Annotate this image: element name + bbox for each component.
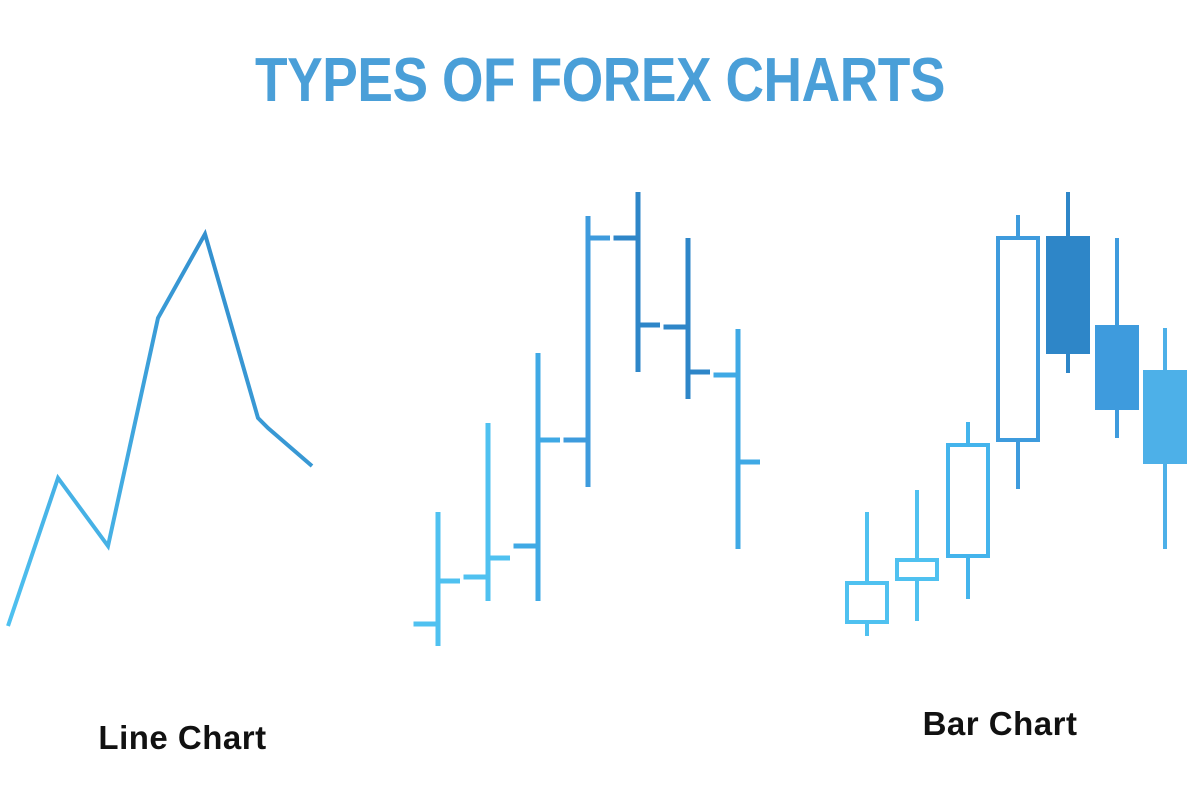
candlestick bbox=[1145, 328, 1185, 549]
candlestick bbox=[1048, 192, 1088, 373]
ohlc-open-tick bbox=[614, 236, 639, 241]
ohlc-close-tick bbox=[636, 323, 661, 328]
ohlc-open-tick bbox=[664, 325, 689, 330]
ohlc-close-tick bbox=[436, 579, 461, 584]
ohlc-open-tick bbox=[414, 622, 439, 627]
ohlc-range-line bbox=[636, 192, 641, 372]
ohlc-bar bbox=[514, 353, 561, 601]
candlestick-series bbox=[847, 192, 1185, 636]
ohlc-bar bbox=[564, 216, 611, 487]
ohlc-close-tick bbox=[486, 556, 511, 561]
candlestick-body-hollow bbox=[897, 560, 937, 579]
ohlc-range-line bbox=[686, 238, 691, 399]
candlestick-body-hollow bbox=[847, 583, 887, 622]
ohlc-open-tick bbox=[564, 438, 589, 443]
bar-chart-graphic bbox=[400, 0, 800, 800]
poster-canvas: TYPES OF FOREX CHARTS Line Chart Bar Cha… bbox=[0, 0, 1200, 800]
candlestick-body-hollow bbox=[948, 445, 988, 556]
ohlc-bar bbox=[714, 329, 761, 549]
line-series-path bbox=[8, 234, 312, 626]
bar-chart-panel: Bar Chart bbox=[400, 0, 800, 800]
ohlc-close-tick bbox=[536, 438, 561, 443]
candlestick bbox=[897, 490, 937, 621]
ohlc-range-line bbox=[736, 329, 741, 549]
ohlc-bar bbox=[664, 238, 711, 399]
candlestick-chart-graphic bbox=[800, 0, 1200, 800]
ohlc-open-tick bbox=[514, 544, 539, 549]
ohlc-bar bbox=[614, 192, 661, 372]
ohlc-bar-series bbox=[414, 192, 761, 646]
line-chart-panel: Line Chart bbox=[0, 0, 400, 800]
ohlc-open-tick bbox=[714, 373, 739, 378]
ohlc-bar bbox=[414, 512, 461, 646]
candlestick-body-filled bbox=[1145, 372, 1185, 462]
ohlc-bar bbox=[464, 423, 511, 601]
candlestick bbox=[998, 215, 1038, 489]
candlestick-body-filled bbox=[1048, 238, 1088, 352]
candlestick bbox=[1097, 238, 1137, 438]
candlestick-chart-panel: Candlestick Chart bbox=[800, 0, 1200, 800]
ohlc-close-tick bbox=[586, 236, 611, 241]
candlestick bbox=[847, 512, 887, 636]
ohlc-range-line bbox=[586, 216, 591, 487]
line-chart-graphic bbox=[0, 0, 400, 800]
ohlc-close-tick bbox=[736, 460, 761, 465]
ohlc-open-tick bbox=[464, 575, 489, 580]
caption-line-chart: Line Chart bbox=[0, 717, 365, 759]
candlestick bbox=[948, 422, 988, 599]
ohlc-range-line bbox=[536, 353, 541, 601]
candlestick-wick bbox=[915, 490, 919, 621]
candlestick-body-hollow bbox=[998, 238, 1038, 440]
ohlc-range-line bbox=[486, 423, 491, 601]
ohlc-close-tick bbox=[686, 370, 711, 375]
candlestick-body-filled bbox=[1097, 327, 1137, 408]
